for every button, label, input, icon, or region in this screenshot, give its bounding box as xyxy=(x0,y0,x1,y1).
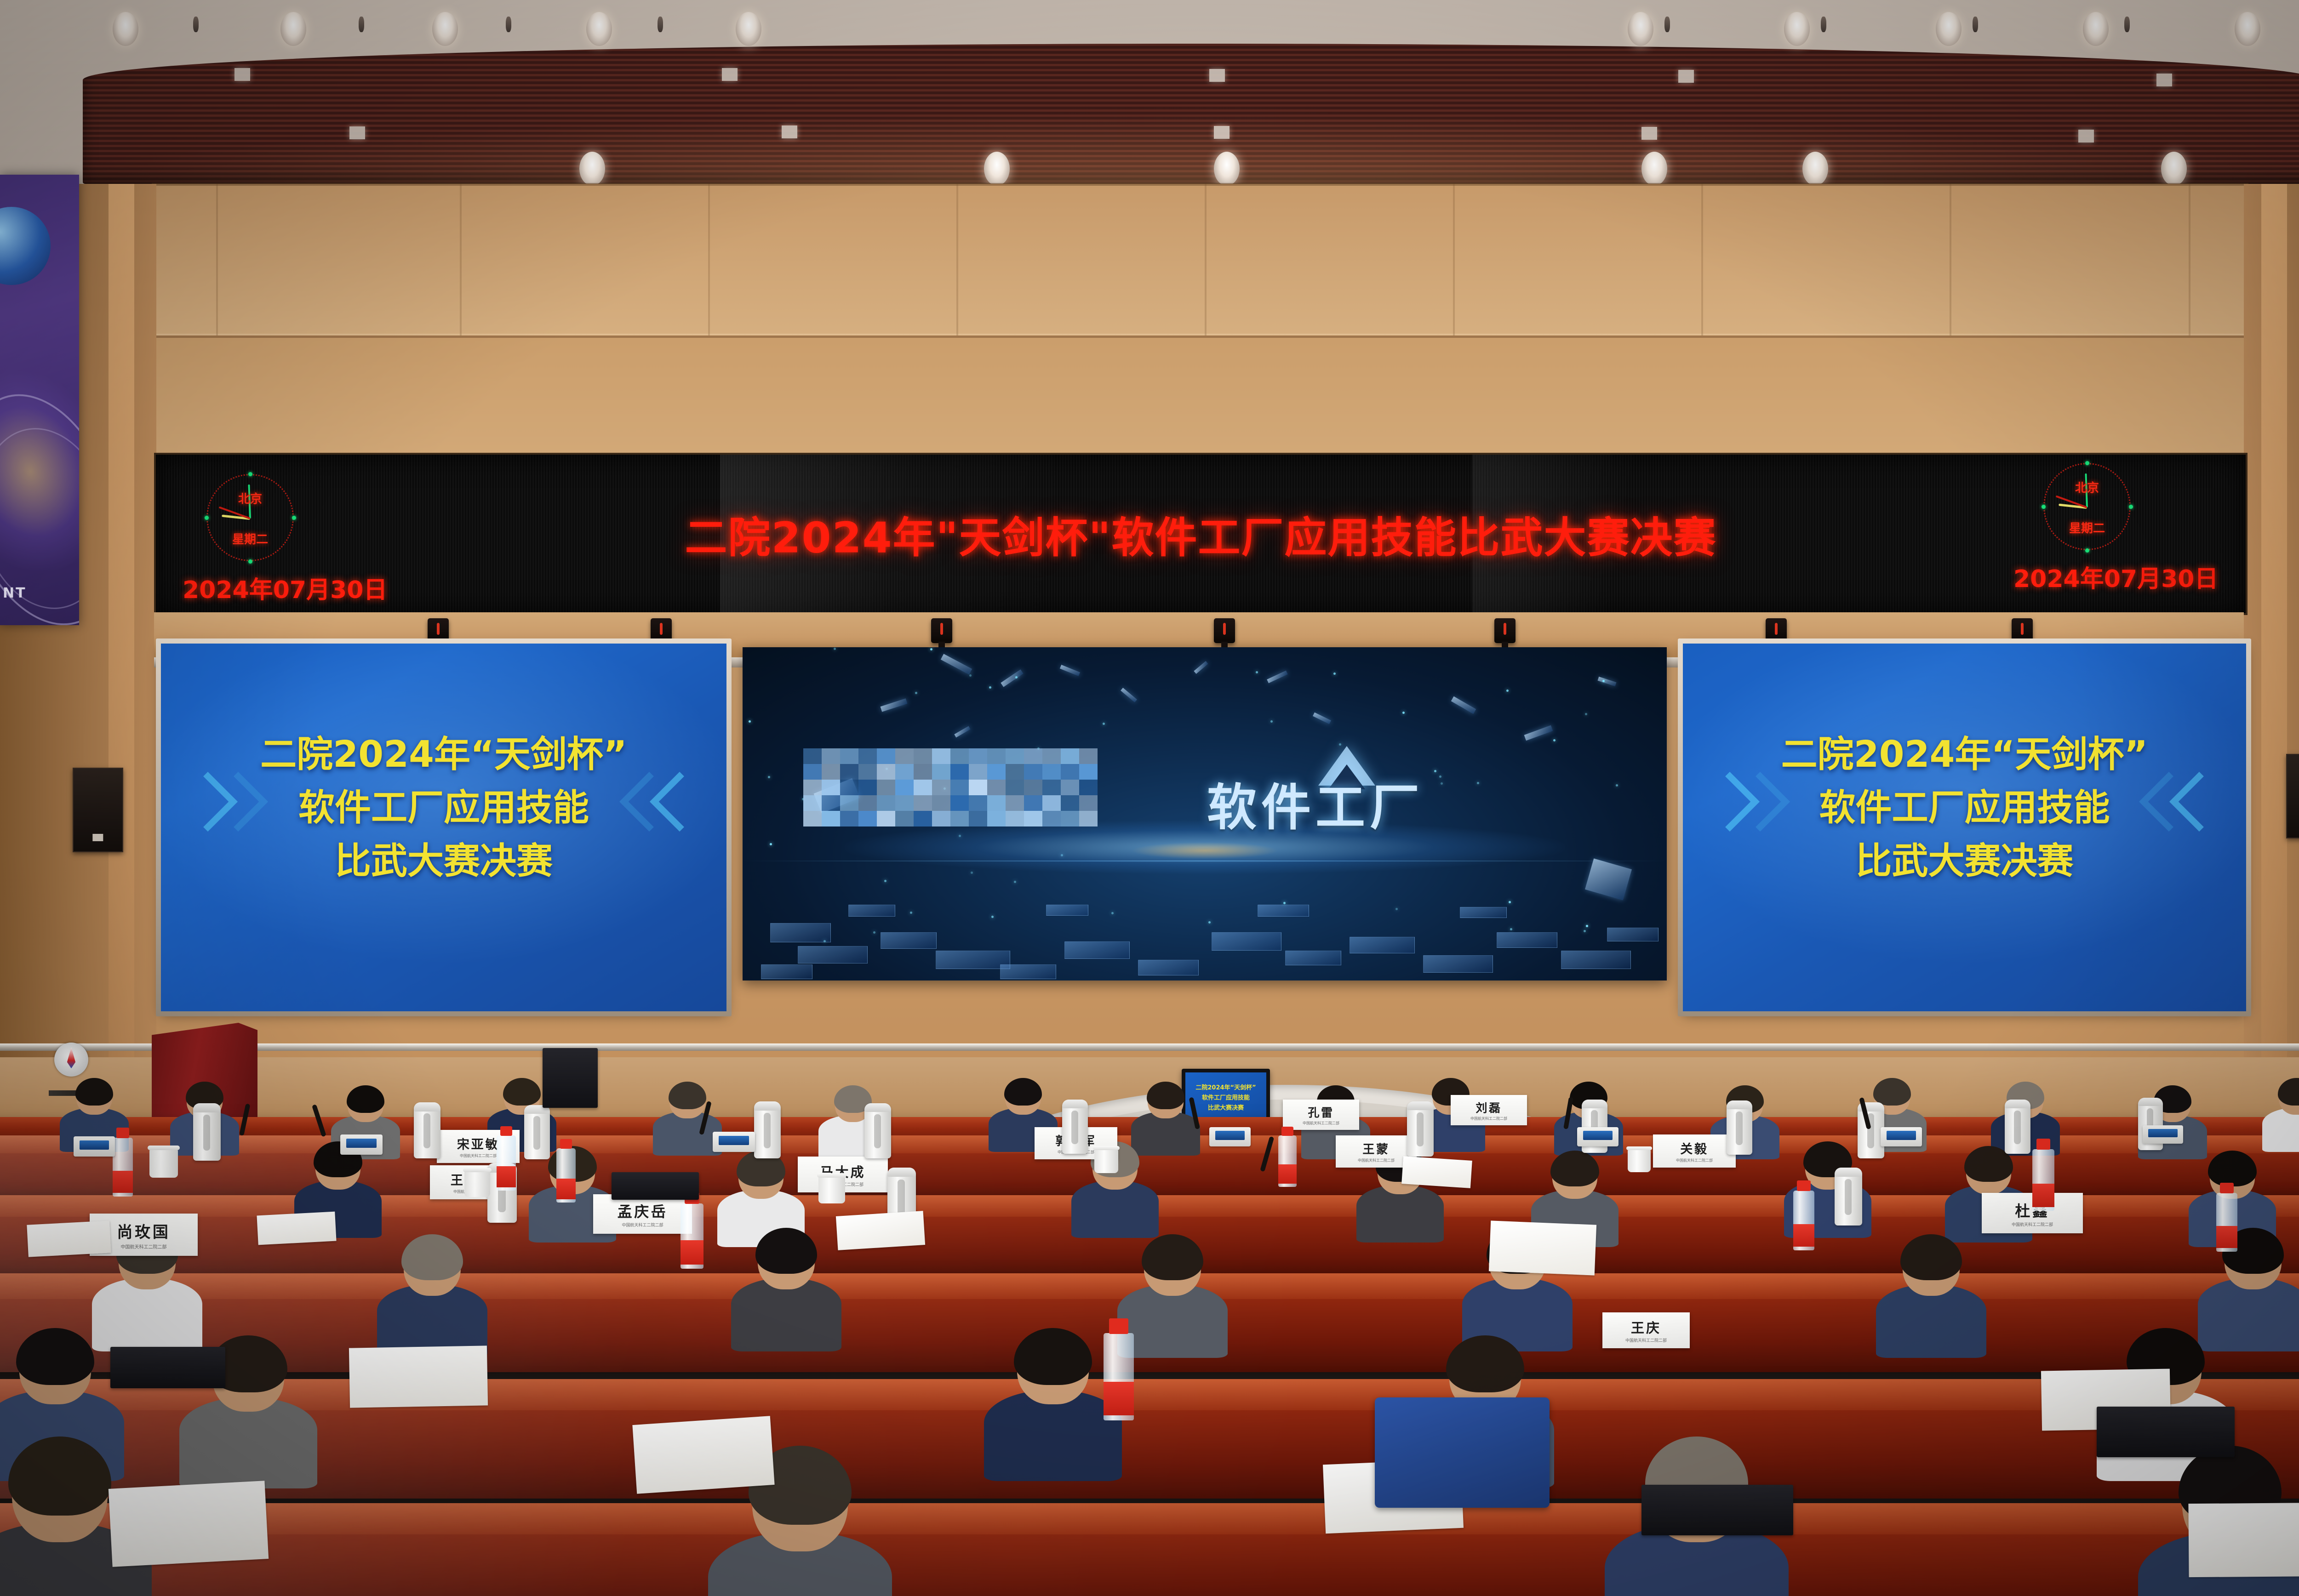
document-paper xyxy=(632,1416,774,1494)
water-bottle xyxy=(497,1135,516,1191)
tech-block xyxy=(1460,907,1507,918)
tech-block xyxy=(881,932,937,949)
tea-cup xyxy=(1094,1149,1118,1173)
tech-block xyxy=(1258,905,1309,917)
thermos-lid xyxy=(1582,1100,1607,1108)
laptop-device xyxy=(612,1172,699,1200)
ceiling-downlight xyxy=(113,12,138,46)
person-hair xyxy=(1147,1082,1185,1109)
laptop-device xyxy=(1641,1485,1793,1535)
tech-block xyxy=(1000,964,1056,979)
wall-panel-seam xyxy=(956,184,958,336)
person-hair xyxy=(75,1078,114,1106)
bottle-cap xyxy=(1109,1318,1128,1334)
clock-mark-3 xyxy=(2129,505,2133,509)
name-card-name: 王蒙 xyxy=(1362,1140,1390,1157)
audience-person xyxy=(2262,1080,2299,1149)
thermos-flask xyxy=(1062,1100,1088,1154)
name-card-affiliation: 中国航天科工二院二部 xyxy=(1470,1116,1507,1121)
thermos-handle xyxy=(1845,1179,1852,1215)
audience-person xyxy=(984,1333,1122,1476)
thermos-lid xyxy=(864,1103,891,1112)
wall-seam-top xyxy=(152,183,2248,186)
screen-left-line-2: 软件工厂应用技能 xyxy=(161,787,726,829)
rocket-emblem-icon xyxy=(54,1043,88,1077)
thermos-lid xyxy=(193,1103,221,1112)
desk-gloss xyxy=(0,1379,2299,1499)
tech-dot xyxy=(1506,690,1509,692)
name-card: 王庆中国航天科工二院二部 xyxy=(1602,1312,1690,1348)
tech-block xyxy=(936,951,1010,969)
water-bottle xyxy=(556,1148,576,1203)
wall-panel-seam xyxy=(1453,184,1455,336)
ceiling-projector xyxy=(1494,618,1516,643)
ceiling-sensor xyxy=(1973,17,1978,32)
person-hair xyxy=(1550,1151,1600,1186)
shoulder-bag xyxy=(1375,1397,1550,1508)
console-screen xyxy=(1215,1131,1245,1140)
thermos-lid xyxy=(2005,1100,2030,1108)
led-date-left: 2024年07月30日 xyxy=(183,570,387,605)
name-card-name: 刘磊 xyxy=(1475,1099,1502,1116)
thermos-flask xyxy=(754,1101,781,1158)
delegate-console xyxy=(2143,1125,2183,1144)
console-screen xyxy=(2148,1129,2177,1137)
tech-dot xyxy=(1283,902,1286,904)
audience-person xyxy=(1131,1084,1200,1153)
ceiling-downlight xyxy=(1802,152,1828,186)
document-paper xyxy=(2188,1503,2299,1577)
desk-gloss xyxy=(0,1503,2299,1596)
audience-person xyxy=(1876,1238,1986,1353)
tech-shard xyxy=(941,654,972,674)
name-card-affiliation: 中国航天科工二院二部 xyxy=(1676,1158,1713,1163)
tech-shard xyxy=(881,698,908,712)
tech-dot xyxy=(1111,912,1114,914)
document-paper xyxy=(1489,1220,1596,1275)
ceiling-light-fixture xyxy=(2156,74,2172,86)
tea-cup xyxy=(1628,1149,1651,1172)
console-screen xyxy=(346,1139,377,1148)
person-hair xyxy=(1900,1234,1962,1280)
cup-lid xyxy=(1093,1146,1120,1150)
thermos-handle xyxy=(423,1113,430,1148)
thermos-flask xyxy=(1727,1100,1752,1155)
tech-shard xyxy=(1524,725,1553,741)
center-logo-text: 软件工厂 xyxy=(1207,768,1424,839)
person-hair xyxy=(2278,1078,2299,1106)
tech-dot xyxy=(1584,930,1586,932)
thermos-flask xyxy=(864,1103,891,1158)
thermos-flask xyxy=(193,1103,221,1161)
led-clock-right: 北京 星期二 xyxy=(2043,463,2131,550)
tech-dot xyxy=(930,648,932,650)
tech-dot xyxy=(1395,908,1398,910)
console-screen xyxy=(719,1136,749,1145)
wall-panel-seam xyxy=(1205,184,1207,336)
ceiling-projector xyxy=(931,618,952,643)
center-horizon-warm-glow xyxy=(1131,842,1279,859)
thermos-flask xyxy=(524,1105,550,1159)
ceiling-sensor xyxy=(193,17,199,32)
bottle-label xyxy=(497,1166,516,1187)
tech-dot xyxy=(749,720,751,723)
tech-dot xyxy=(910,912,912,914)
delegate-console xyxy=(1577,1127,1618,1146)
screen-right: 二院2024年“天剑杯” 软件工厂应用技能 比武大赛决赛 xyxy=(1683,644,2246,1011)
thermos-flask xyxy=(1407,1101,1434,1157)
audience-person xyxy=(1117,1238,1228,1353)
thermos-handle xyxy=(1736,1111,1743,1145)
ceiling-sensor xyxy=(1664,17,1670,32)
tech-dot xyxy=(834,648,836,650)
screen-center-surface: 软件工厂 xyxy=(743,647,1667,980)
ceiling-downlight xyxy=(2235,12,2260,46)
led-clock-left: 北京 星期二 xyxy=(206,474,294,561)
ceiling-light-fixture xyxy=(1214,126,1230,139)
ceiling-downlight xyxy=(1784,12,1810,46)
person-hair xyxy=(1142,1234,1204,1280)
tech-dot xyxy=(1602,680,1605,682)
name-card-affiliation: 中国航天科工二院二部 xyxy=(622,1222,663,1228)
name-card-name: 王庆 xyxy=(1631,1317,1661,1337)
person-hair xyxy=(347,1085,385,1113)
audience-person xyxy=(377,1238,487,1353)
laptop-device xyxy=(2097,1407,2235,1457)
console-screen xyxy=(80,1140,109,1150)
tech-dot xyxy=(1015,676,1018,678)
tech-shard xyxy=(1267,671,1287,684)
thermos-lid xyxy=(1727,1100,1752,1109)
tech-block xyxy=(1046,905,1088,916)
water-bottle xyxy=(1104,1333,1134,1420)
bottle-label xyxy=(2216,1226,2237,1248)
tech-dot xyxy=(824,940,826,942)
tech-dot xyxy=(915,692,917,694)
tech-dot xyxy=(1208,921,1211,923)
ceiling-downlight xyxy=(586,12,612,46)
ceiling-downlight xyxy=(736,12,761,46)
cup-lid xyxy=(463,1168,492,1172)
ceiling-downlight xyxy=(1628,12,1653,46)
tech-dot xyxy=(1270,720,1273,723)
name-card-affiliation: 中国航天科工二院二部 xyxy=(460,1153,497,1158)
tech-dot xyxy=(1586,925,1588,927)
name-card-name: 孔雷 xyxy=(1308,1104,1334,1120)
tech-dot xyxy=(770,843,772,845)
screen-right-line-3: 比武大赛决赛 xyxy=(1683,840,2246,883)
ceiling-downlight xyxy=(579,152,605,186)
tech-dot xyxy=(989,686,991,689)
cup-lid xyxy=(1626,1146,1652,1150)
tech-dot xyxy=(969,674,972,677)
person-hair xyxy=(401,1234,463,1280)
stage-metal-rail xyxy=(0,1043,2299,1051)
tech-shard xyxy=(1313,712,1331,724)
tech-shard xyxy=(1585,859,1632,901)
document-paper xyxy=(1401,1156,1472,1188)
right-wall-light-strip xyxy=(2261,184,2287,1085)
audience-person xyxy=(731,1232,841,1347)
water-bottle xyxy=(681,1203,703,1269)
ceiling-light-fixture xyxy=(1209,69,1225,82)
tech-dot xyxy=(1441,782,1443,785)
ceiling-sensor xyxy=(2124,17,2130,32)
back-wall-upper-band xyxy=(152,184,2248,338)
thermos-flask xyxy=(414,1102,440,1158)
tech-block xyxy=(770,923,831,942)
screen-right-line-2: 软件工厂应用技能 xyxy=(1683,787,2246,829)
thermos-lid xyxy=(754,1101,781,1111)
name-card-name: 关毅 xyxy=(1680,1139,1709,1157)
person-hair xyxy=(503,1078,541,1106)
poster-left-en-text: NT xyxy=(3,585,27,601)
tech-block xyxy=(1212,932,1281,951)
tech-block xyxy=(1423,955,1493,973)
name-card: 刘磊中国航天科工二院二部 xyxy=(1451,1095,1527,1125)
tech-dot xyxy=(1439,775,1441,778)
clock-mark-9 xyxy=(205,516,209,520)
tech-block xyxy=(848,905,895,917)
ceiling-light-fixture xyxy=(1678,70,1694,83)
tech-shard xyxy=(1060,665,1080,676)
bottle-cap xyxy=(560,1139,572,1149)
water-bottle xyxy=(2216,1193,2237,1252)
tech-dot xyxy=(1103,723,1105,725)
thermos-lid xyxy=(887,1168,916,1177)
desk-row xyxy=(0,1379,2299,1499)
ceiling-downlight xyxy=(1936,12,1962,46)
tea-cup xyxy=(818,1177,845,1203)
audience-person xyxy=(653,1084,722,1153)
thermos-handle xyxy=(533,1116,540,1150)
tech-shard xyxy=(1598,677,1617,686)
thermos-handle xyxy=(898,1180,905,1216)
ceiling-downlight xyxy=(2161,152,2187,186)
screen-left: 二院2024年“天剑杯” 软件工厂应用技能 比武大赛决赛 xyxy=(161,644,726,1011)
document-paper xyxy=(257,1212,336,1245)
desk-row xyxy=(0,1503,2299,1596)
wall-panel-seam xyxy=(460,184,462,336)
clock-mark-6 xyxy=(248,559,252,564)
thermos-handle xyxy=(874,1114,881,1148)
ceiling-light-fixture xyxy=(234,68,250,81)
document-paper xyxy=(27,1220,111,1257)
audience-person xyxy=(2198,1232,2299,1347)
delegate-console xyxy=(713,1132,755,1152)
name-card-name: 尚玫国 xyxy=(117,1220,170,1242)
cup-lid xyxy=(148,1146,179,1150)
ceiling-downlight xyxy=(984,152,1010,186)
bottle-cap xyxy=(500,1126,513,1136)
thermos-lid xyxy=(414,1102,440,1111)
console-screen xyxy=(1887,1131,1916,1140)
tech-block xyxy=(798,946,868,963)
tech-dot xyxy=(884,880,886,882)
thermos-handle xyxy=(1417,1112,1424,1146)
mosaic-redaction xyxy=(803,748,1098,826)
tech-block xyxy=(1497,932,1557,948)
ceiling-sensor xyxy=(1821,17,1826,32)
thermos-handle xyxy=(2014,1111,2021,1144)
name-card: 孔雷中国航天科工二院二部 xyxy=(1283,1100,1359,1130)
tech-dot xyxy=(1616,784,1618,787)
wall-panel-seam xyxy=(708,184,710,336)
bottle-cap xyxy=(2220,1183,2233,1193)
tech-dot xyxy=(1585,713,1587,715)
thermos-lid xyxy=(1407,1101,1434,1110)
clock-weekday-label: 星期二 xyxy=(232,530,268,547)
ceiling-light-fixture xyxy=(1641,127,1657,140)
tech-dot xyxy=(1509,901,1511,903)
tech-block xyxy=(1285,951,1341,965)
screen-left-line-1: 二院2024年“天剑杯” xyxy=(161,734,726,776)
person-hair xyxy=(1446,1335,1524,1392)
tech-block xyxy=(1064,941,1130,959)
wall-panel-seam xyxy=(216,184,218,336)
ceiling-downlight xyxy=(432,12,458,46)
ceiling-downlight xyxy=(1214,152,1240,186)
tech-dot xyxy=(873,931,875,934)
name-card-affiliation: 中国航天科工二院二部 xyxy=(1625,1337,1667,1343)
laptop-device xyxy=(543,1048,598,1108)
name-card-name: 孟庆岳 xyxy=(618,1200,668,1221)
bottle-label xyxy=(113,1171,133,1193)
water-bottle xyxy=(113,1138,133,1197)
tech-dot xyxy=(1333,673,1336,675)
thermos-handle xyxy=(1071,1111,1078,1144)
tea-cup xyxy=(149,1149,178,1178)
clock-mark-9 xyxy=(2042,505,2046,509)
tech-shard xyxy=(1121,688,1137,702)
name-card: 孟庆岳中国航天科工二院二部 xyxy=(593,1194,692,1234)
poster-orb-icon xyxy=(0,207,51,285)
ceiling-projector xyxy=(1214,618,1235,643)
thermos-flask xyxy=(1835,1168,1862,1225)
clock-city-label: 北京 xyxy=(2075,479,2099,496)
ceiling-downlight xyxy=(1641,152,1667,186)
tea-cup xyxy=(464,1171,490,1197)
thermos-handle xyxy=(764,1113,771,1148)
wall-panel-seam xyxy=(1701,184,1703,336)
thermos-handle xyxy=(203,1115,211,1151)
person-hair xyxy=(1014,1328,1092,1385)
person-hair xyxy=(1004,1078,1042,1106)
ceiling-light-fixture xyxy=(349,126,365,139)
name-card-affiliation: 中国航天科工二院二部 xyxy=(2012,1221,2053,1227)
tech-shard xyxy=(1451,696,1476,714)
screen-left-line-3: 比武大赛决赛 xyxy=(161,840,726,883)
auditorium-scene: NT 总体 THE OVE 北京 星期二 2024年07月30日 二院2024年… xyxy=(0,0,2299,1596)
bottle-cap xyxy=(2036,1139,2051,1150)
tech-dot xyxy=(991,916,994,918)
bottle-label xyxy=(1278,1164,1297,1184)
tech-dot xyxy=(1256,671,1258,673)
delegate-console xyxy=(1209,1127,1251,1146)
bottle-cap xyxy=(1281,1127,1293,1136)
led-banner: 北京 星期二 2024年07月30日 二院2024年"天剑杯"软件工厂应用技能比… xyxy=(154,453,2248,615)
screen-right-surface: 二院2024年“天剑杯” 软件工厂应用技能 比武大赛决赛 xyxy=(1683,644,2246,1011)
left-wall-light-strip xyxy=(109,184,134,1085)
wall-seam xyxy=(152,334,2248,335)
delegate-console xyxy=(340,1134,383,1155)
clock-mark-6 xyxy=(2085,548,2089,553)
bottle-label xyxy=(1104,1382,1134,1415)
ceiling-sensor xyxy=(359,17,364,32)
tech-dot xyxy=(1510,928,1512,930)
person-hair xyxy=(669,1082,707,1109)
ceiling-light-fixture xyxy=(722,68,738,81)
person-hair xyxy=(755,1228,818,1274)
console-screen xyxy=(1583,1131,1613,1140)
clock-mark-12 xyxy=(248,472,252,476)
ceiling-sensor xyxy=(658,17,663,32)
document-paper xyxy=(836,1211,925,1250)
led-date-right: 2024年07月30日 xyxy=(2013,559,2218,594)
tech-block xyxy=(1607,928,1658,941)
document-paper xyxy=(349,1345,488,1408)
clock-city-label: 北京 xyxy=(238,490,262,507)
water-bottle xyxy=(1278,1135,1297,1187)
name-card: 关毅中国航天科工二院二部 xyxy=(1653,1134,1736,1168)
name-card-affiliation: 中国航天科工二院二部 xyxy=(121,1243,167,1250)
poster-left: NT xyxy=(0,175,79,625)
screen-center: 软件工厂 xyxy=(743,647,1667,980)
person-hair xyxy=(8,1436,112,1516)
tech-dot xyxy=(1014,881,1016,883)
bottle-cap xyxy=(1797,1180,1810,1191)
screen-right-line-1: 二院2024年“天剑杯” xyxy=(1683,734,2246,776)
name-card-affiliation: 中国航天科工二院二部 xyxy=(1358,1158,1395,1163)
name-card-affiliation: 中国航天科工二院二部 xyxy=(1303,1121,1339,1126)
clock-weekday-label: 星期二 xyxy=(2069,519,2105,536)
bottle-label xyxy=(1793,1224,1814,1247)
thermos-lid xyxy=(2138,1098,2163,1106)
clock-mark-3 xyxy=(292,516,296,520)
thermos-lid xyxy=(1835,1168,1862,1177)
tech-shard xyxy=(1194,661,1208,674)
ceiling-sensor xyxy=(506,17,511,32)
clock-mark-12 xyxy=(2085,461,2089,465)
cup-lid xyxy=(817,1173,847,1177)
water-bottle xyxy=(2032,1149,2054,1211)
ceiling-light-fixture xyxy=(2078,130,2094,142)
bottle-label xyxy=(556,1179,576,1199)
tech-block xyxy=(1561,951,1631,969)
tech-shard xyxy=(954,726,970,738)
ceiling-downlight xyxy=(2083,12,2109,46)
screen-left-surface: 二院2024年“天剑杯” 软件工厂应用技能 比武大赛决赛 xyxy=(161,644,726,1011)
tech-dot xyxy=(1477,782,1479,784)
wall-panel-seam xyxy=(2189,184,2190,336)
bottle-label xyxy=(681,1240,703,1265)
wall-panel-seam xyxy=(1950,184,1951,336)
thermos-lid xyxy=(1062,1100,1088,1108)
delegate-console xyxy=(74,1136,115,1157)
wall-speaker-left xyxy=(73,768,123,852)
wall-speaker-right xyxy=(2286,754,2299,838)
ceiling-downlight xyxy=(280,12,306,46)
person-hair xyxy=(1873,1078,1911,1106)
ceiling-light-fixture xyxy=(782,125,797,138)
tech-shard xyxy=(1001,669,1023,687)
document-paper xyxy=(109,1481,269,1567)
laptop-device xyxy=(110,1347,225,1388)
led-headline: 二院2024年"天剑杯"软件工厂应用技能比武大赛决赛 xyxy=(685,503,1717,564)
bottle-cap xyxy=(116,1128,129,1138)
person-hair xyxy=(2208,1151,2257,1186)
tech-block xyxy=(761,964,812,979)
